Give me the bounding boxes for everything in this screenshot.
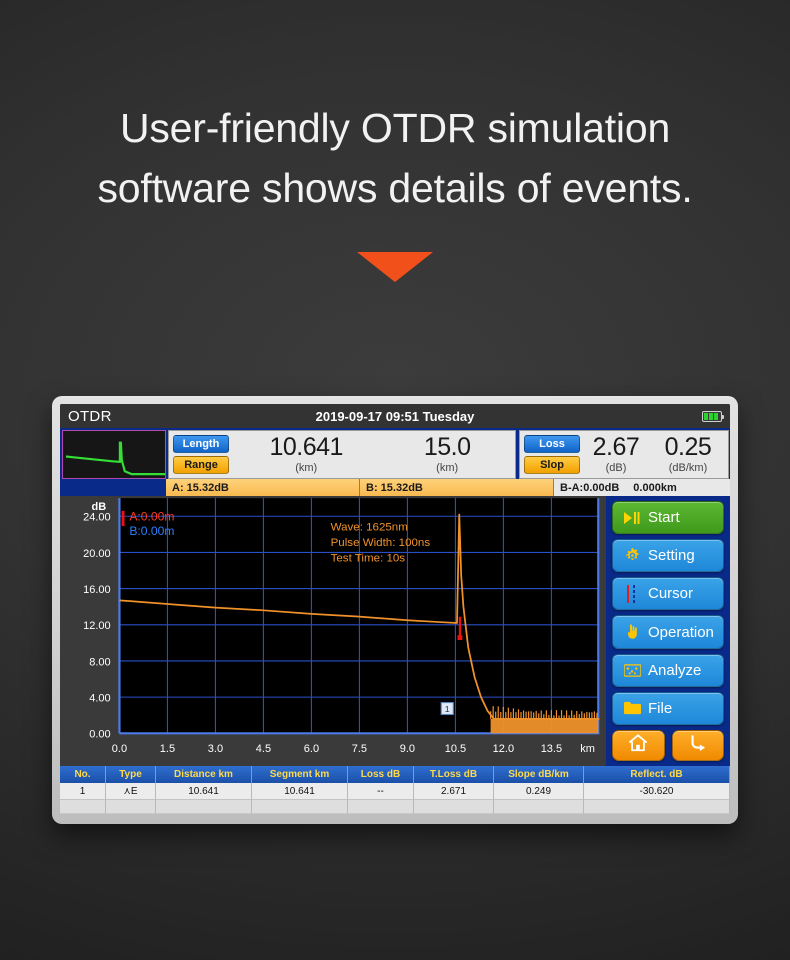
chart-and-sidebar: dB0.004.008.0012.0016.0020.0024.000.01.5… <box>60 496 730 766</box>
otdr-chart[interactable]: dB0.004.008.0012.0016.0020.0024.000.01.5… <box>60 496 606 766</box>
sidebar-item-label: Setting <box>648 547 695 564</box>
sidebar-item-operation[interactable]: Operation <box>612 615 724 648</box>
sidebar-item-label: Cursor <box>648 585 693 602</box>
svg-text:A:0.00m: A:0.00m <box>129 510 174 524</box>
loss-value: 2.67 (dB) <box>593 435 640 474</box>
table-header-cell: Slope dB/km <box>494 766 584 783</box>
svg-text:Test Time: 10s: Test Time: 10s <box>331 553 406 565</box>
grid-analyze-icon <box>623 661 641 679</box>
table-blank-row <box>60 800 730 814</box>
home-icon <box>627 733 649 758</box>
table-blank-cell <box>60 800 106 814</box>
loss-slope-tags: Loss Slop <box>524 435 580 474</box>
length-value: 10.641 (km) <box>269 435 342 474</box>
svg-text:Wave: 1625nm: Wave: 1625nm <box>331 522 408 534</box>
svg-text:0.00: 0.00 <box>89 729 110 741</box>
table-header-cell: No. <box>60 766 106 783</box>
marker-delta: B-A:0.00dB 0.000km <box>554 479 730 496</box>
svg-text:1: 1 <box>445 704 450 714</box>
otdr-device: OTDR 2019-09-17 09:51 Tuesday Length Ran… <box>52 396 738 824</box>
svg-text:km: km <box>580 743 595 755</box>
table-header-cell: Reflect. dB <box>584 766 730 783</box>
svg-text:9.0: 9.0 <box>400 743 415 755</box>
loss-tag[interactable]: Loss <box>524 435 580 453</box>
marker-delta-db: B-A:0.00dB <box>560 482 619 494</box>
sidebar-item-label: Analyze <box>648 662 701 679</box>
table-cell: 10.641 <box>252 783 348 800</box>
svg-text:16.00: 16.00 <box>83 584 111 596</box>
measurement-strip: Length Range 10.641 (km) 15.0 (km) Lo <box>60 428 730 479</box>
sidebar-item-cursor[interactable]: Cursor <box>612 577 724 610</box>
table-blank-cell <box>348 800 414 814</box>
table-cell: -30.620 <box>584 783 730 800</box>
svg-text:7.5: 7.5 <box>352 743 367 755</box>
sidebar-item-setting[interactable]: Setting <box>612 539 724 572</box>
headline-line-1: User-friendly OTDR simulation <box>0 98 790 158</box>
range-value: 15.0 (km) <box>424 435 471 474</box>
table-blank-cell <box>494 800 584 814</box>
page-headline: User-friendly OTDR simulation software s… <box>0 98 790 218</box>
svg-text:13.5: 13.5 <box>541 743 562 755</box>
slope-tag[interactable]: Slop <box>524 456 580 474</box>
back-arrow-icon <box>687 733 709 758</box>
event-table: No.TypeDistance kmSegment kmLoss dBT.Los… <box>60 766 730 814</box>
folder-icon <box>623 699 641 717</box>
table-cell: 2.671 <box>414 783 494 800</box>
sidebar-item-label: File <box>648 700 672 717</box>
svg-text:8.00: 8.00 <box>89 656 110 668</box>
svg-text:6.0: 6.0 <box>304 743 319 755</box>
table-header-row: No.TypeDistance kmSegment kmLoss dBT.Los… <box>60 766 730 783</box>
table-row[interactable]: 1⋏E10.64110.641--2.6710.249-30.620 <box>60 783 730 800</box>
datetime-label: 2019-09-17 09:51 Tuesday <box>60 409 730 424</box>
slope-value: 0.25 (dB/km) <box>665 435 712 474</box>
length-range-block: Length Range 10.641 (km) 15.0 (km) <box>168 430 516 479</box>
svg-text:3.0: 3.0 <box>208 743 223 755</box>
sidebar-item-file[interactable]: File <box>612 692 724 725</box>
nav-row <box>612 730 724 761</box>
home-button[interactable] <box>612 730 665 761</box>
svg-text:24.00: 24.00 <box>83 512 111 524</box>
table-cell: -- <box>348 783 414 800</box>
app-title: OTDR <box>68 408 112 425</box>
table-header-cell: Type <box>106 766 156 783</box>
svg-text:12.0: 12.0 <box>493 743 514 755</box>
device-screen: OTDR 2019-09-17 09:51 Tuesday Length Ran… <box>60 404 730 814</box>
marker-b-value: B: 15.32dB <box>360 479 554 496</box>
table-header-cell: Segment km <box>252 766 348 783</box>
sidebar-item-analyze[interactable]: Analyze <box>612 654 724 687</box>
length-values: 10.641 (km) 15.0 (km) <box>229 435 511 474</box>
gear-icon <box>623 547 641 565</box>
table-blank-cell <box>584 800 730 814</box>
length-tag[interactable]: Length <box>173 435 229 453</box>
sidebar-item-label: Start <box>648 509 680 526</box>
down-arrow-icon <box>357 252 433 282</box>
svg-text:12.00: 12.00 <box>83 620 111 632</box>
table-cell: 1 <box>60 783 106 800</box>
sidebar-item-label: Operation <box>648 624 714 641</box>
svg-text:Pulse Width: 100ns: Pulse Width: 100ns <box>331 537 431 549</box>
title-bar: OTDR 2019-09-17 09:51 Tuesday <box>60 404 730 428</box>
table-header-cell: Distance km <box>156 766 252 783</box>
svg-text:10.5: 10.5 <box>445 743 466 755</box>
table-blank-cell <box>252 800 348 814</box>
table-cell: ⋏E <box>106 783 156 800</box>
table-header-cell: Loss dB <box>348 766 414 783</box>
svg-text:20.00: 20.00 <box>83 548 111 560</box>
svg-text:0.0: 0.0 <box>112 743 127 755</box>
table-blank-cell <box>414 800 494 814</box>
cursor-lines-icon <box>623 585 641 603</box>
battery-icon <box>702 411 722 422</box>
headline-line-2: software shows details of events. <box>0 158 790 218</box>
range-tag[interactable]: Range <box>173 456 229 474</box>
play-pause-icon <box>623 509 641 527</box>
hand-pointer-icon <box>623 623 641 641</box>
sidebar-item-start[interactable]: Start <box>612 501 724 534</box>
titlebar-right <box>702 411 722 422</box>
length-range-tags: Length Range <box>173 435 229 474</box>
svg-text:B:0.00m: B:0.00m <box>129 524 174 538</box>
sidebar: Start Setting Cursor <box>606 496 730 766</box>
table-header-cell: T.Loss dB <box>414 766 494 783</box>
trace-thumbnail[interactable] <box>62 430 166 479</box>
marker-a-value: A: 15.32dB <box>166 479 360 496</box>
svg-text:1.5: 1.5 <box>160 743 175 755</box>
loss-slope-block: Loss Slop 2.67 (dB) 0.25 (dB/km) <box>519 430 729 479</box>
table-blank-cell <box>106 800 156 814</box>
svg-text:4.5: 4.5 <box>256 743 271 755</box>
loss-values: 2.67 (dB) 0.25 (dB/km) <box>580 435 724 474</box>
back-button[interactable] <box>672 730 725 761</box>
table-body: 1⋏E10.64110.641--2.6710.249-30.620 <box>60 783 730 800</box>
table-cell: 10.641 <box>156 783 252 800</box>
table-blank-cell <box>156 800 252 814</box>
svg-text:4.00: 4.00 <box>89 693 110 705</box>
marker-strip: A: 15.32dB B: 15.32dB B-A:0.00dB 0.000km <box>60 479 730 496</box>
table-cell: 0.249 <box>494 783 584 800</box>
marker-delta-km: 0.000km <box>633 482 676 494</box>
